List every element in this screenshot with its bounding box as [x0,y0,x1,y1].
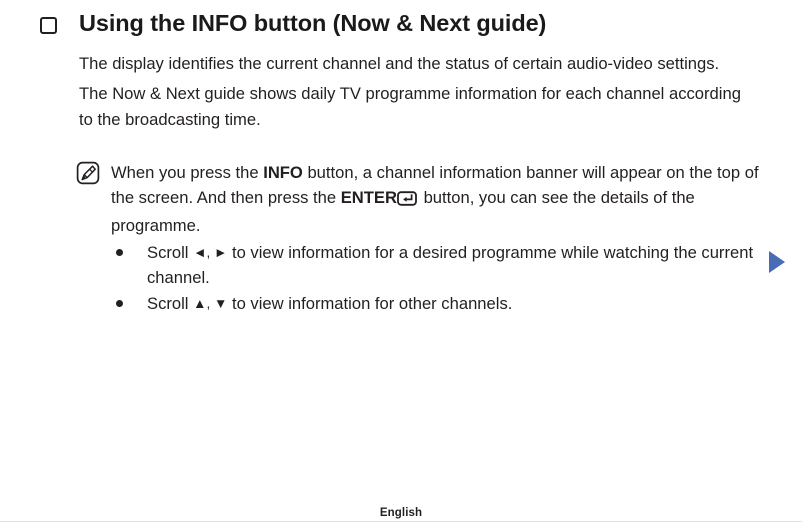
note-block: When you press the INFO button, a channe… [76,160,766,238]
section-heading: Using the INFO button (Now & Next guide) [40,8,740,38]
page-title: Using the INFO button (Now & Next guide) [79,8,546,38]
document-page: Using the INFO button (Now & Next guide)… [0,0,802,525]
list-item: Scroll ◄, ► to view information for a de… [116,240,766,290]
note-enter-keyword: ENTER [341,188,397,207]
list-item-suffix: to view information for a desired progra… [147,243,753,287]
list-item-text: Scroll ▲, ▼ to view information for othe… [147,291,766,316]
list-item-prefix: Scroll [147,294,193,313]
filled-dot-bullet-icon [116,300,123,307]
filled-dot-bullet-icon [116,249,123,256]
list-item-suffix: to view information for other channels. [227,294,512,313]
footer-divider [0,521,802,522]
note-info-keyword: INFO [263,163,303,182]
enter-key-icon [397,188,418,213]
list-item-prefix: Scroll [147,243,193,262]
instruction-list: Scroll ◄, ► to view information for a de… [116,240,766,316]
note-text: When you press the INFO button, a channe… [111,160,763,238]
footer-language-label: English [380,507,422,519]
body-paragraphs: The display identifies the current chann… [79,51,751,133]
paragraph-2: The Now & Next guide shows daily TV prog… [79,81,751,133]
hollow-square-bullet-icon [40,17,57,34]
list-item: Scroll ▲, ▼ to view information for othe… [116,291,766,316]
page-footer: English [0,503,802,521]
next-page-triangle-icon[interactable] [769,251,785,273]
up-down-arrow-keys-icon: ▲, ▼ [193,296,227,311]
note-pen-icon [76,161,100,185]
note-seg-1: When you press the [111,163,263,182]
left-right-arrow-keys-icon: ◄, ► [193,245,227,260]
paragraph-1: The display identifies the current chann… [79,51,751,77]
list-item-text: Scroll ◄, ► to view information for a de… [147,240,766,290]
